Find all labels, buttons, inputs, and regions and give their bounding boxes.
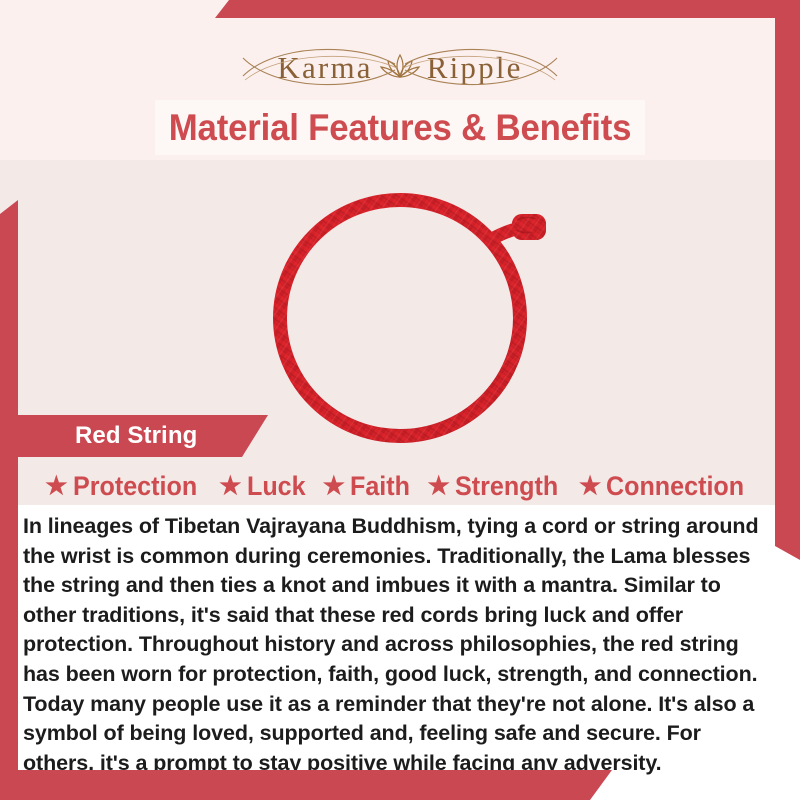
star-icon: ★ [323,474,345,499]
feature-label: Protection [73,471,197,502]
star-icon: ★ [45,474,67,499]
feature-label: Faith [350,471,410,502]
feature-list: ★ Protection ★ Luck ★ Faith ★ Strength ★… [0,466,800,506]
decor-red-left-bar [0,200,18,800]
brand-word-left: Karma [277,52,372,83]
feature-item-connection: ★ Connection [579,471,755,502]
feature-label: Connection [606,471,744,502]
description-paragraph: In lineages of Tibetan Vajrayana Buddhis… [23,512,775,778]
product-image [240,168,580,448]
page-title: Material Features & Benefits [169,107,631,149]
feature-label: Strength [455,471,558,502]
feature-item-protection: ★ Protection [45,471,206,502]
lotus-icon [379,50,421,84]
feature-item-luck: ★ Luck [219,471,309,502]
feature-item-faith: ★ Faith [323,471,415,502]
feature-label: Luck [247,471,306,502]
feature-item-strength: ★ Strength [427,471,565,502]
material-ribbon: Red String [18,415,268,457]
brand-word-right: Ripple [427,52,523,83]
decor-red-bottom-band [0,770,612,800]
decor-red-top-band [215,0,800,18]
red-string-bracelet-illustration [240,168,580,448]
decor-red-right-bar [775,0,800,560]
infographic-page: Karma Ripple Material Features & Benefit… [0,0,800,800]
star-icon: ★ [219,474,241,499]
material-name: Red String [75,422,197,450]
headline-band: Material Features & Benefits [155,100,645,155]
star-icon: ★ [579,474,601,499]
star-icon: ★ [427,474,449,499]
brand-logo: Karma Ripple [0,36,800,98]
